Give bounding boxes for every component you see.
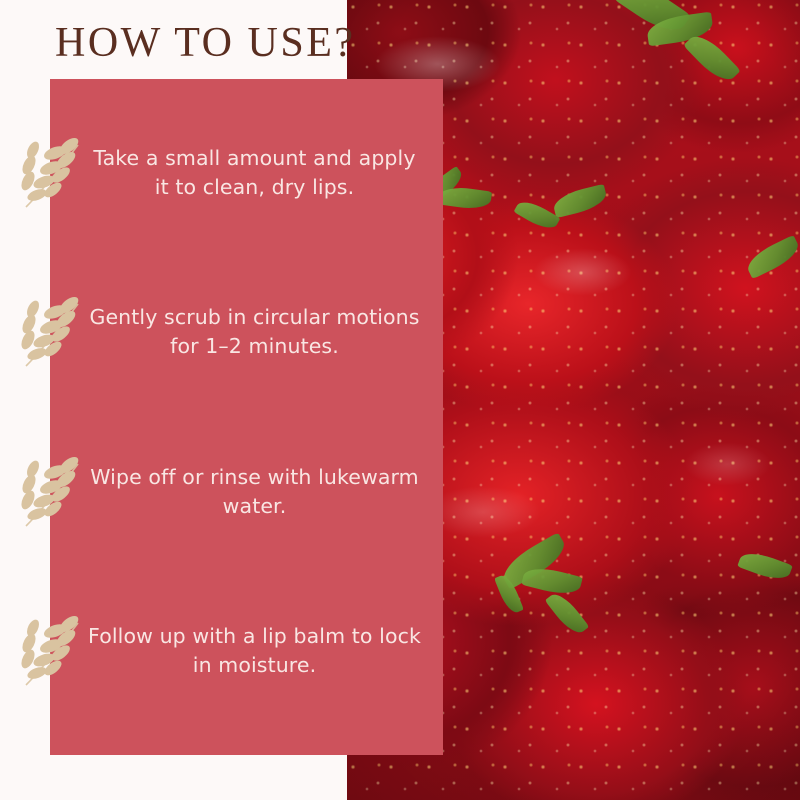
instruction-step: Take a small amount and apply it to clea… [50, 144, 443, 202]
instruction-step-text: Follow up with a lip balm to lock in moi… [88, 622, 421, 680]
leaf-branch-icon [20, 292, 86, 372]
leaf-branch-icon [20, 452, 86, 532]
poster-canvas: HOW TO USE? [0, 0, 800, 800]
instruction-step: Follow up with a lip balm to lock in moi… [50, 622, 443, 680]
leaf-branch-icon [20, 133, 86, 213]
leaf-branch-icon [20, 611, 86, 691]
instruction-step-text: Gently scrub in circular motions for 1–2… [88, 303, 421, 361]
instruction-step: Gently scrub in circular motions for 1–2… [50, 303, 443, 361]
page-title: HOW TO USE? [55, 22, 356, 64]
instruction-step-text: Wipe off or rinse with lukewarm water. [88, 463, 421, 521]
instruction-step: Wipe off or rinse with lukewarm water. [50, 463, 443, 521]
instruction-step-text: Take a small amount and apply it to clea… [88, 144, 421, 202]
instruction-step-list: Take a small amount and apply it to clea… [50, 79, 443, 755]
